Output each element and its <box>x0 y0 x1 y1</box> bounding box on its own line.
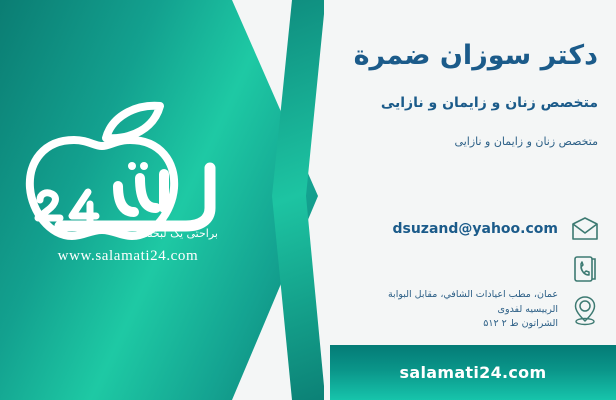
logo-url[interactable]: www.salamati24.com <box>14 248 242 265</box>
location-pin-icon <box>568 293 602 327</box>
address-line-1: عمان، مطب اعيادات الشافي، مقابل البوابة … <box>358 288 558 317</box>
salamati-apple-logo-icon <box>14 96 242 246</box>
logo-tagline: براحتی یک لبخند <box>144 227 218 240</box>
contact-row-email[interactable]: dsuzand@yahoo.com <box>392 212 602 246</box>
envelope-icon <box>568 212 602 246</box>
specialty-primary: متخصص زنان و زایمان و نازایی <box>381 95 598 111</box>
address-value: عمان، مطب اعيادات الشافي، مقابل البوابة … <box>358 288 558 332</box>
email-value[interactable]: dsuzand@yahoo.com <box>392 221 558 237</box>
contact-row-address[interactable]: عمان، مطب اعيادات الشافي، مقابل البوابة … <box>358 288 602 332</box>
specialty-secondary: متخصص زنان و زایمان و نازایی <box>455 135 598 148</box>
footer-website[interactable]: salamati24.com <box>400 363 547 382</box>
doctor-name: دکتر سوزان ضمرة <box>354 40 598 71</box>
card-content: دکتر سوزان ضمرة متخصص زنان و زایمان و نا… <box>330 0 616 400</box>
address-line-2: الشراتون ط ۲ ۵۱۲ <box>358 317 558 332</box>
brand-logo: براحتی یک لبخند www.salamati24.com <box>14 96 242 286</box>
business-card: براحتی یک لبخند www.salamati24.com دکتر … <box>0 0 616 400</box>
phonebook-icon <box>568 252 602 286</box>
footer-bar: salamati24.com <box>330 345 616 400</box>
contact-row-phone[interactable] <box>568 252 602 286</box>
